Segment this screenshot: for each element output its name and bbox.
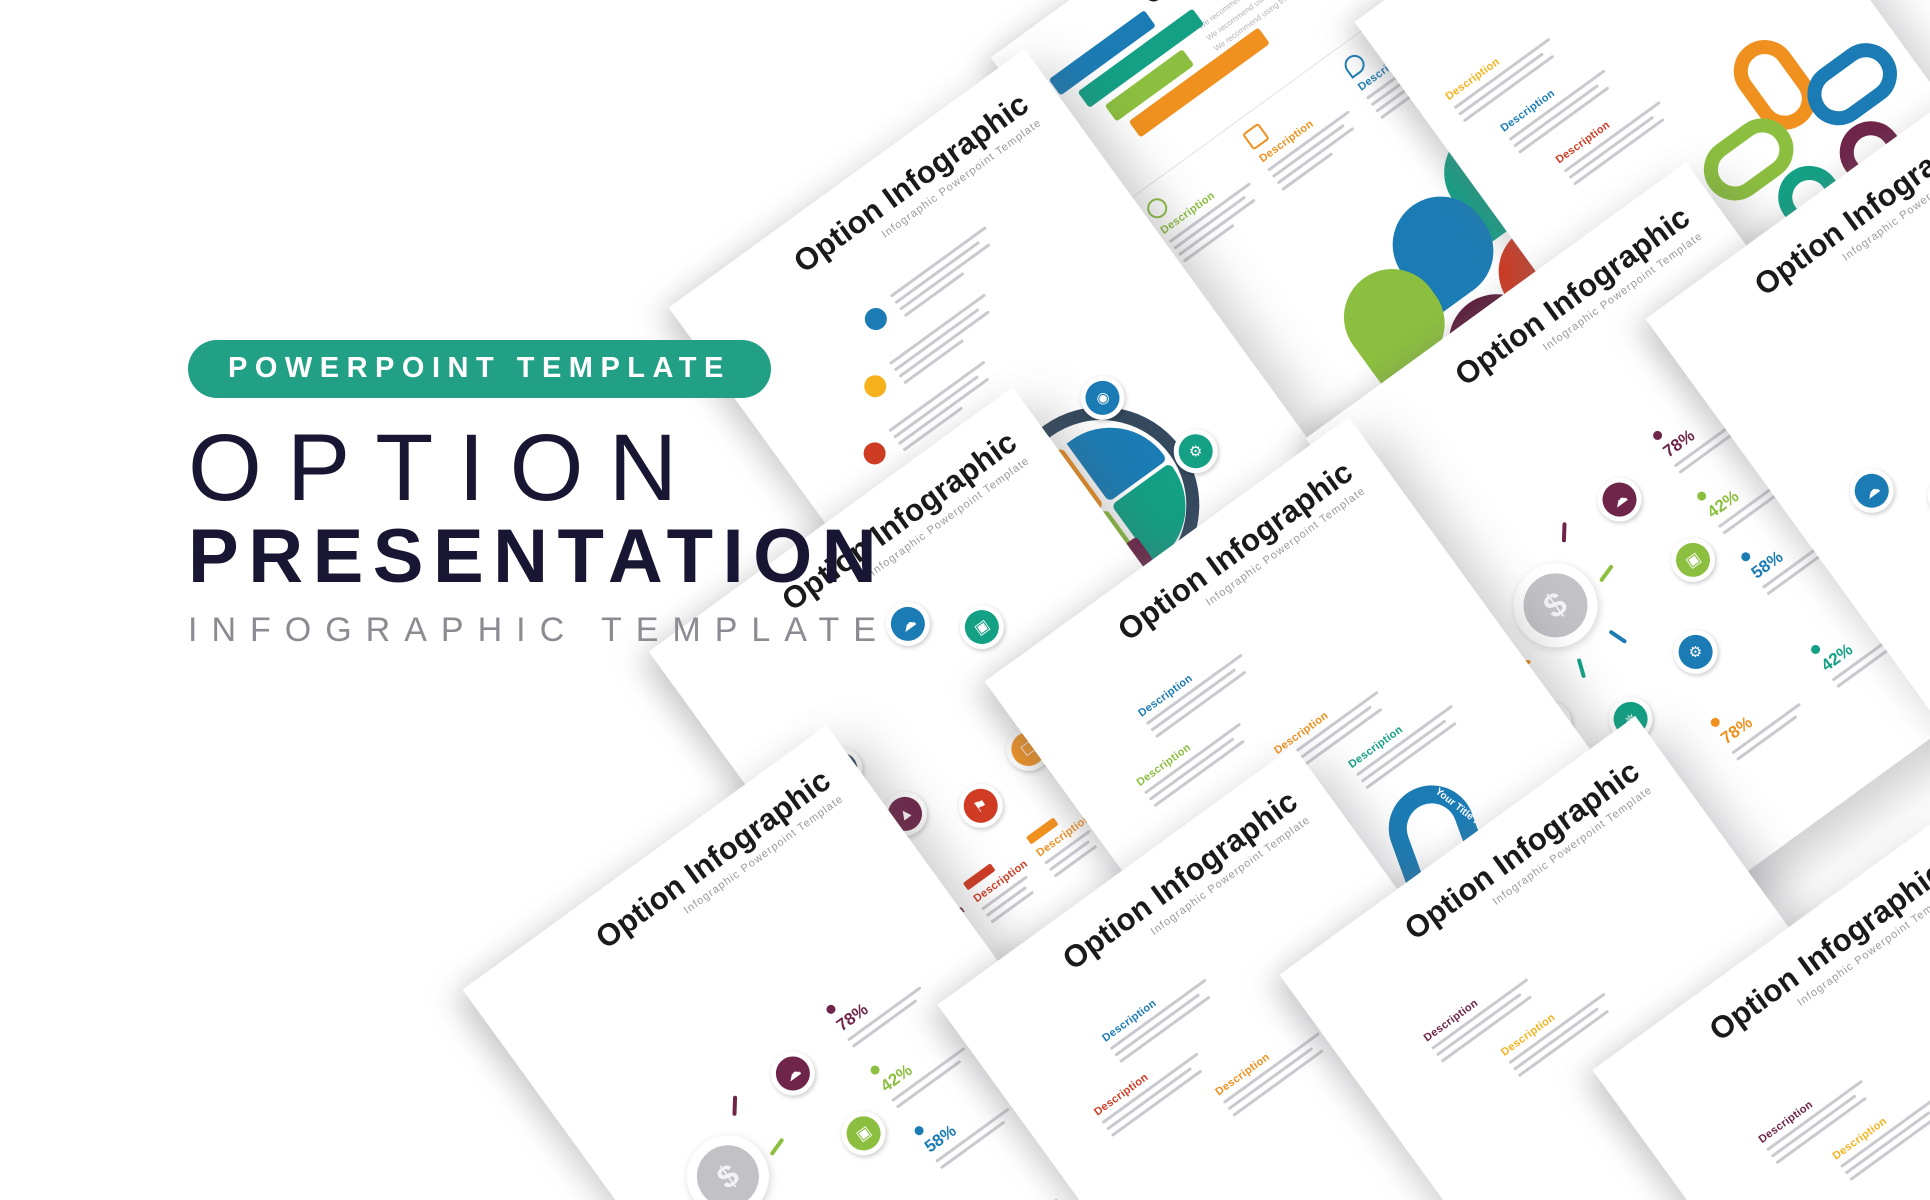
node-cloud-icon: ☁ <box>1589 469 1650 530</box>
page-subtitle: PRESENTATION <box>188 519 1008 595</box>
stat-dot <box>825 1003 838 1016</box>
dollar-coin-icon: $ <box>671 1119 786 1200</box>
description-group: Description Description <box>1385 933 1628 1153</box>
slide-title-block: Option Infographic Infographic Powerpoin… <box>590 764 845 968</box>
node-tag-icon: ⚑ <box>950 775 1011 836</box>
ray <box>1599 564 1614 583</box>
page-tagline: INFOGRAPHIC TEMPLATE <box>188 613 1008 647</box>
stat-item: 78% <box>1709 672 1809 765</box>
description-group: Description Description <box>1708 1037 1930 1200</box>
stat-dot <box>1739 550 1752 563</box>
stat-dot <box>1651 429 1664 442</box>
stat-dot <box>913 1124 926 1137</box>
poster-canvas: Option Infographic Infographic Powerpoin… <box>0 0 1930 1200</box>
node-cloud-icon: ☁ <box>762 1043 823 1104</box>
ray <box>1577 658 1586 678</box>
slide-subtitle: Infographic Powerpoint Template <box>612 793 846 968</box>
stat-dot <box>1809 643 1822 656</box>
slide-title: Option Infographic <box>590 764 835 954</box>
node-gear-icon: ⚙ <box>1665 621 1726 682</box>
colorbar-item: Description <box>963 846 1047 928</box>
bullet-dot <box>861 304 892 335</box>
node-card-icon: ▣ <box>1662 529 1723 590</box>
slide-title-block: Option Infographic Infographic Powerpoin… <box>1466 0 1721 12</box>
ray <box>732 1096 737 1116</box>
powerpoint-template-badge: POWERPOINT TEMPLATE <box>188 340 771 398</box>
description-item: Description <box>1242 76 1367 195</box>
node-card-icon: ▣ <box>833 1103 894 1164</box>
stat-dot <box>869 1064 882 1077</box>
star-petal <box>1795 31 1909 138</box>
ray <box>1608 629 1627 644</box>
hero-text-block: POWERPOINT TEMPLATE OPTION PRESENTATION … <box>188 340 1008 647</box>
slide-subtitle: Infographic Powerpoint Template <box>1487 0 1721 12</box>
node-card-icon: ▣ <box>1919 465 1930 526</box>
page-title: OPTION <box>188 420 1008 517</box>
stat-group-lower: 78% 42% <box>872 1168 1066 1200</box>
ray <box>769 1138 784 1157</box>
stat-dot <box>1709 716 1722 729</box>
node-gear-icon: ⚙ <box>833 1194 894 1200</box>
description-group: Description Description Description <box>1443 0 1673 220</box>
stat-value: 42% <box>978 1179 1054 1200</box>
stat-item: 78% <box>825 955 927 1048</box>
box-icon <box>1242 123 1270 151</box>
node-cloud-icon: ☁ <box>1841 460 1902 521</box>
stat-dot <box>1695 490 1708 503</box>
ray <box>1562 522 1567 542</box>
